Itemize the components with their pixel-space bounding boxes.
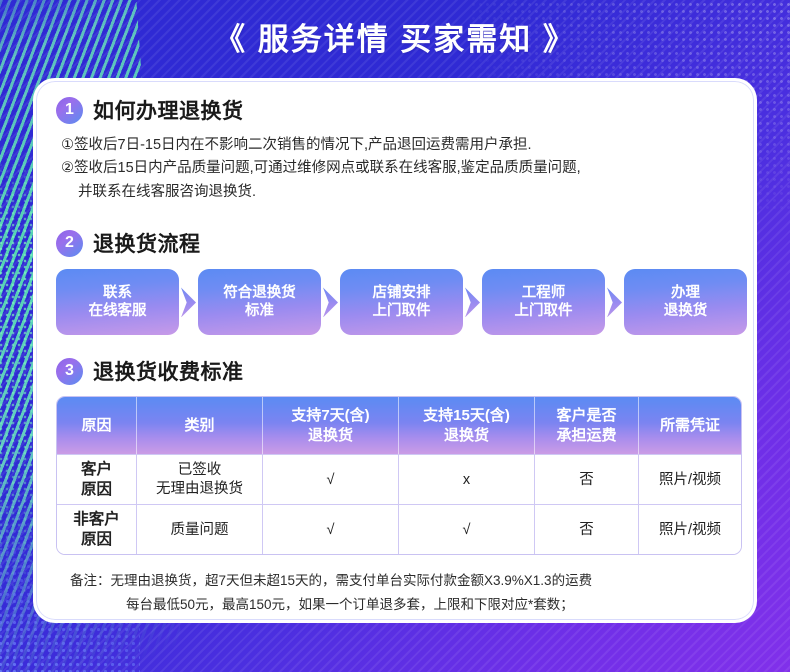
flow-step-box: 联系 在线客服	[56, 269, 179, 335]
flow-step-4: 工程师 上门取件	[482, 269, 624, 335]
chevron-right-icon	[181, 287, 196, 317]
flow-step-3: 店铺安排 上门取件	[340, 269, 482, 335]
column-header-reason: 原因	[57, 397, 137, 454]
flow-step-label-line1: 办理	[671, 284, 700, 303]
cell-reason: 非客户 原因	[57, 504, 137, 554]
header-line1: 支持15天(含)	[403, 406, 530, 426]
section-1-header: 1 如何办理退换货	[56, 95, 734, 125]
banner-header: 《 服务详情 买家需知 》	[0, 0, 790, 72]
column-header-support-7-days: 支持7天(含) 退换货	[263, 397, 399, 454]
table-row: 非客户 原因 质量问题 √ √ 否 照片/视频	[57, 504, 741, 554]
header-line2: 承担运费	[539, 426, 634, 446]
cell-line2: 原因	[60, 530, 133, 550]
header-line1: 支持7天(含)	[267, 406, 394, 426]
flow-step-1: 联系 在线客服	[56, 269, 198, 335]
cell-line2: 无理由退换货	[140, 480, 259, 499]
cell-support-7-days: √	[263, 504, 399, 554]
chevron-right-icon	[323, 287, 338, 317]
cell-customer-pays-freight: 否	[535, 454, 639, 504]
cell-customer-pays-freight: 否	[535, 504, 639, 554]
flow-step-label-line1: 联系	[103, 284, 132, 303]
cell-reason: 客户 原因	[57, 454, 137, 504]
header-line1: 原因	[61, 416, 132, 436]
cell-category: 质量问题	[137, 504, 263, 554]
header-line1: 类别	[141, 416, 258, 436]
footnote-line-1: 备注：无理由退换货，超7天但未超15天的，需支付单台实际付款金额X3.9%X1.…	[70, 569, 734, 593]
flow-step-label-line2: 上门取件	[373, 302, 431, 321]
cell-support-15-days: √	[399, 504, 535, 554]
chevron-right-icon	[465, 287, 480, 317]
footnote-line-2: 每台最低50元，最高150元，如果一个订单退多套，上限和下限对应*套数；	[70, 593, 734, 617]
section-1-body: ①签收后7日-15日内在不影响二次销售的情况下,产品退回运费需用户承担. ②签收…	[61, 134, 734, 204]
promo-banner: 《 服务详情 买家需知 》 1 如何办理退换货 ①签收后7日-15日内在不影响二…	[0, 0, 790, 672]
flow-step-box: 店铺安排 上门取件	[340, 269, 463, 335]
header-line2: 退换货	[403, 426, 530, 446]
return-process-flow: 联系 在线客服 符合退换货 标准 店铺安排 上门取件	[56, 269, 734, 335]
chevron-right-icon	[607, 287, 622, 317]
column-header-customer-pays-freight: 客户是否 承担运费	[535, 397, 639, 454]
cell-line1: 已签收	[140, 461, 259, 480]
cell-support-7-days: √	[263, 454, 399, 504]
policy-line-2: ②签收后15日内产品质量问题,可通过维修网点或联系在线客服,鉴定品质质量问题,	[61, 157, 734, 180]
column-header-required-proof: 所需凭证	[639, 397, 741, 454]
table-row: 客户 原因 已签收 无理由退换货 √ x 否 照片/视频	[57, 454, 741, 504]
flow-step-label-line1: 符合退换货	[223, 284, 296, 303]
cell-line2: 原因	[60, 480, 133, 500]
policy-line-1: ①签收后7日-15日内在不影响二次销售的情况下,产品退回运费需用户承担.	[61, 134, 734, 157]
cell-support-15-days: x	[399, 454, 535, 504]
cell-line1: 非客户	[60, 510, 133, 530]
flow-step-label-line2: 在线客服	[89, 302, 147, 321]
table-footnote: 备注：无理由退换货，超7天但未超15天的，需支付单台实际付款金额X3.9%X1.…	[56, 569, 734, 616]
flow-step-label-line1: 店铺安排	[373, 284, 431, 303]
column-header-category: 类别	[137, 397, 263, 454]
table-header-row: 原因 类别 支持7天(含) 退换货 支持15天(含) 退换货	[57, 397, 741, 454]
section-2-header: 2 退换货流程	[56, 228, 734, 258]
header-line2: 退换货	[267, 426, 394, 446]
header-line1: 所需凭证	[643, 416, 737, 436]
cell-line1: 客户	[60, 460, 133, 480]
flow-step-label-line2: 上门取件	[515, 302, 573, 321]
fee-standard-table: 原因 类别 支持7天(含) 退换货 支持15天(含) 退换货	[56, 396, 742, 555]
cell-required-proof: 照片/视频	[639, 454, 741, 504]
section-2: 2 退换货流程 联系 在线客服 符合退换货 标准	[56, 228, 734, 335]
cell-required-proof: 照片/视频	[639, 504, 741, 554]
column-header-support-15-days: 支持15天(含) 退换货	[399, 397, 535, 454]
page-title: 《 服务详情 买家需知 》	[214, 14, 576, 59]
flow-step-2: 符合退换货 标准	[198, 269, 340, 335]
section-1-badge: 1	[56, 97, 83, 124]
flow-step-label-line2: 退换货	[664, 302, 708, 321]
section-3-header: 3 退换货收费标准	[56, 356, 734, 386]
section-3-badge: 3	[56, 358, 83, 385]
flow-step-box: 办理 退换货	[624, 269, 747, 335]
section-3-title: 退换货收费标准	[93, 356, 244, 386]
content-card: 1 如何办理退换货 ①签收后7日-15日内在不影响二次销售的情况下,产品退回运费…	[33, 78, 757, 623]
flow-step-box: 符合退换货 标准	[198, 269, 321, 335]
flow-step-label-line1: 工程师	[522, 284, 566, 303]
section-1-title: 如何办理退换货	[93, 95, 244, 125]
policy-line-3: 并联系在线客服咨询退换货.	[61, 181, 734, 204]
flow-step-box: 工程师 上门取件	[482, 269, 605, 335]
flow-step-label-line2: 标准	[245, 302, 274, 321]
section-3: 3 退换货收费标准 原因	[56, 356, 734, 616]
section-2-badge: 2	[56, 230, 83, 257]
header-line1: 客户是否	[539, 406, 634, 426]
section-2-title: 退换货流程	[93, 228, 201, 258]
cell-category: 已签收 无理由退换货	[137, 454, 263, 504]
flow-step-5: 办理 退换货	[624, 269, 747, 335]
